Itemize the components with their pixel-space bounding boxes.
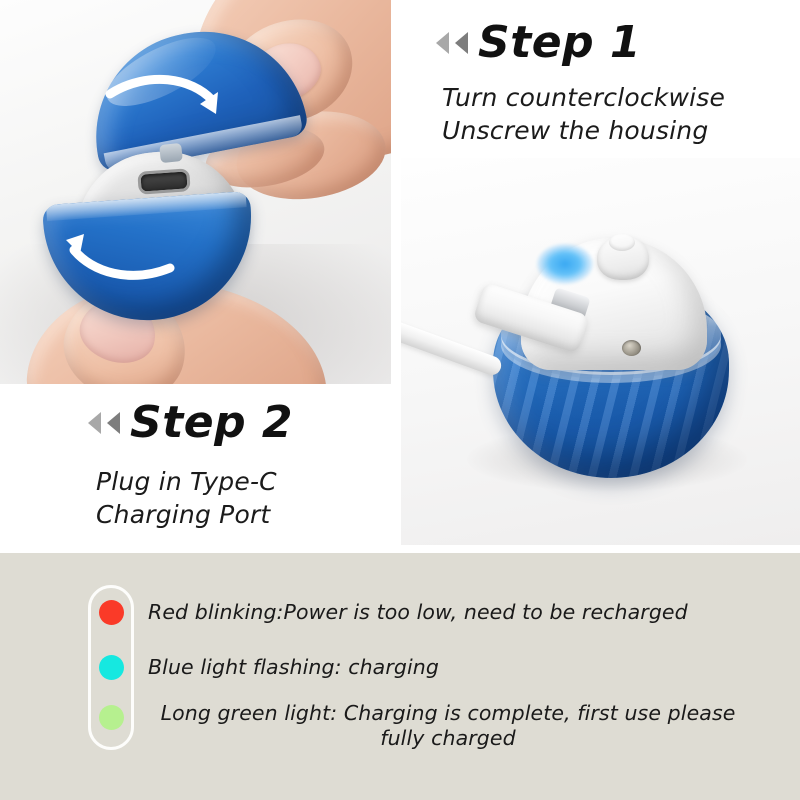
legend-text-red: Red blinking:Power is too low, need to b… [148,600,688,625]
step-2-title: Step 2 [130,400,293,446]
dome-knob-top [609,234,635,251]
step-1-title: Step 1 [478,20,641,66]
legend-row-green: Long green light: Charging is complete, … [88,695,772,751]
red-status-dot [99,600,124,625]
step-1-block: Step 1 Turn counterclockwise Unscrew the… [436,20,786,147]
product-instruction-page: Step 1 Turn counterclockwise Unscrew the… [0,0,800,800]
double-left-triangle-icon-b [455,32,468,54]
step-2-heading: Step 2 [88,400,388,446]
double-left-triangle-icon-a [436,32,449,54]
step-1-heading: Step 1 [436,20,786,66]
step-2-body: Plug in Type-C Charging Port [96,466,388,531]
dome-screw [622,340,641,356]
legend-content: Red blinking:Power is too low, need to b… [88,585,772,751]
blue-led-indicator [537,244,593,284]
green-status-dot [99,705,124,730]
ball-charging-photo [401,158,800,545]
double-left-triangle-icon-c [88,412,101,434]
legend-text-blue: Blue light flashing: charging [148,655,439,680]
led-status-legend-panel: Red blinking:Power is too low, need to b… [0,553,800,800]
legend-row-red: Red blinking:Power is too low, need to b… [88,585,772,640]
dot-cell-green [88,701,134,730]
type-c-port [137,168,190,195]
double-left-triangle-icon-d [107,412,120,434]
core-top-nub [159,143,183,163]
legend-text-green: Long green light: Charging is complete, … [148,701,748,751]
dot-cell-blue [88,655,134,680]
hand-holding-split-ball-photo [0,0,391,384]
legend-row-blue: Blue light flashing: charging [88,640,772,695]
highlight-sheen [97,24,225,119]
dot-cell-red [88,600,134,625]
step-2-block: Step 2 Plug in Type-C Charging Port [88,400,388,531]
step-1-body: Turn counterclockwise Unscrew the housin… [442,82,786,147]
blue-status-dot [99,655,124,680]
